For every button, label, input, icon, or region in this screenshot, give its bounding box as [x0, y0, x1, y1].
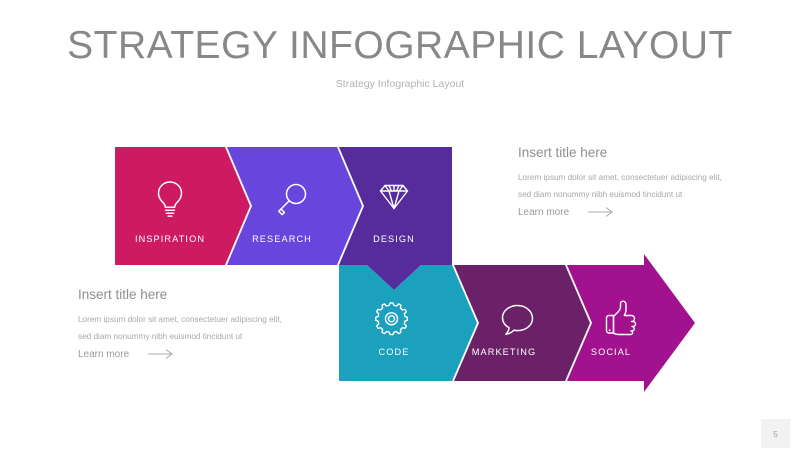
step-label-social: SOCIAL [591, 347, 631, 357]
arrow-right-icon [587, 206, 617, 218]
text-block-right-body: Lorem ipsum dolor sit amet, consectetuer… [518, 169, 733, 203]
step-label-marketing: MARKETING [472, 347, 537, 357]
text-block-left-title: Insert title here [78, 287, 293, 302]
arrow-right-icon [147, 348, 177, 360]
learn-more-right[interactable]: Learn more [518, 206, 733, 218]
text-block-right: Insert title here Lorem ipsum dolor sit … [518, 145, 733, 218]
infographic-diagram: INSPIRATION RESEARCH [0, 0, 800, 450]
text-block-left: Insert title here Lorem ipsum dolor sit … [78, 287, 293, 360]
step-label-design: DESIGN [373, 234, 415, 244]
learn-more-left[interactable]: Learn more [78, 348, 293, 360]
page-number-badge: 5 [761, 419, 790, 448]
learn-more-right-label: Learn more [518, 207, 569, 218]
learn-more-left-label: Learn more [78, 349, 129, 360]
text-block-left-body: Lorem ipsum dolor sit amet, consectetuer… [78, 311, 293, 345]
page-number-label: 5 [773, 429, 778, 439]
step-code[interactable]: CODE [339, 265, 477, 381]
text-block-right-title: Insert title here [518, 145, 733, 160]
step-inspiration[interactable]: INSPIRATION [115, 147, 250, 265]
step-label-inspiration: INSPIRATION [135, 234, 205, 244]
step-label-research: RESEARCH [252, 234, 312, 244]
step-label-code: CODE [379, 347, 410, 357]
